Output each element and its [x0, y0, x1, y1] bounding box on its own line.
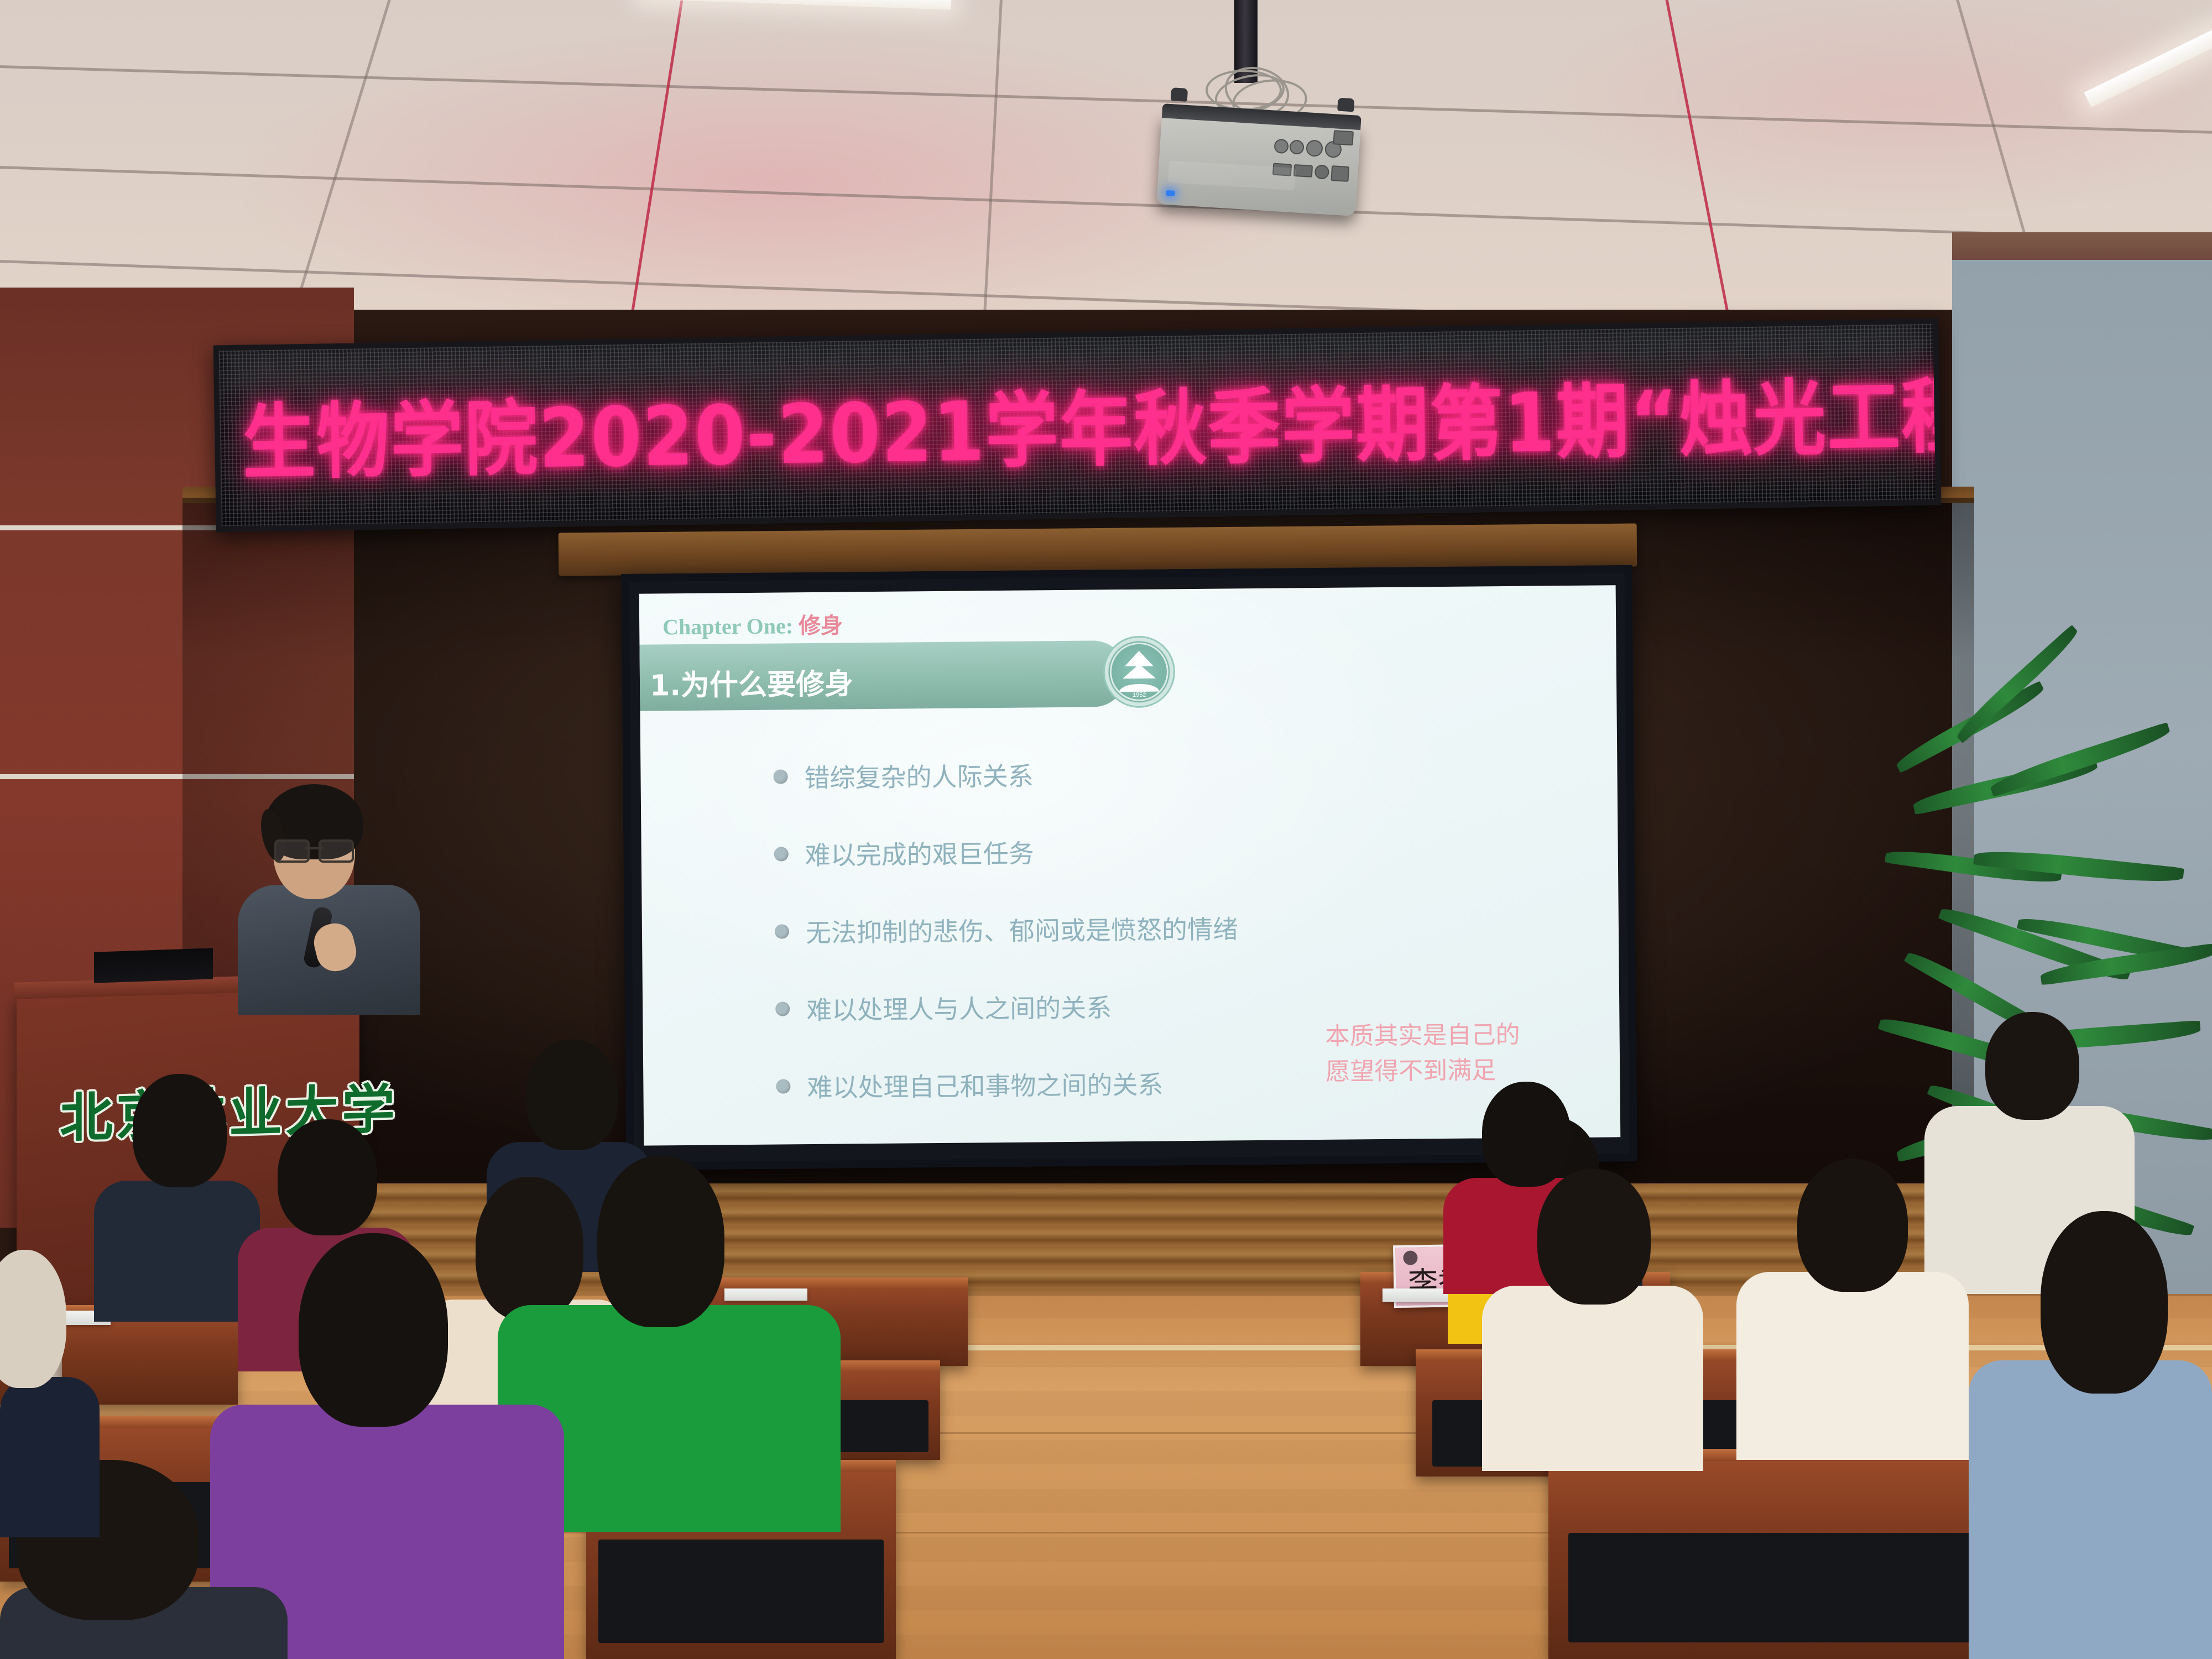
projector-mount-foot [1337, 98, 1354, 112]
projector-power-led-icon [1166, 190, 1175, 196]
bullet-dot-icon [775, 924, 789, 938]
bullet-dot-icon [775, 1001, 790, 1016]
bullet-dot-icon [776, 1079, 790, 1093]
podium-laptop [94, 948, 213, 983]
list-item: 错综复杂的人际关系 [773, 753, 1470, 795]
slide-section-title: 1.为什么要修身 [650, 660, 854, 703]
bullet-text: 难以完成的艰巨任务 [805, 834, 1034, 873]
projector-mount-foot [1171, 87, 1188, 102]
projector-assembly [1139, 0, 1416, 238]
sidenote-line: 本质其实是自己的 [1325, 1018, 1520, 1055]
list-item [1482, 1161, 1703, 1471]
emblem-chevron-bottom [1123, 664, 1156, 679]
bfu-emblem-icon: 1952 [1103, 635, 1175, 708]
chapter-cn-text: 修身 [799, 613, 843, 639]
ceiling [0, 0, 2212, 310]
projector-body [1156, 113, 1360, 216]
bullet-text: 错综复杂的人际关系 [804, 757, 1034, 795]
chapter-en-text: Chapter One: [662, 613, 793, 639]
bullet-dot-icon [773, 769, 787, 784]
presentation-slide: Chapter One:修身 1.为什么要修身 1952 错综复杂的人际关系 [639, 585, 1621, 1145]
list-item: 无法抑制的悲伤、郁闷或是愤怒的情绪 [775, 907, 1472, 950]
bullet-text: 难以处理人与人之间的关系 [806, 988, 1112, 1027]
slide-title-bar: 1.为什么要修身 [639, 640, 1126, 711]
ceiling-color-cast-right [0, 0, 2212, 310]
list-item [1736, 1150, 1969, 1460]
bullet-dot-icon [774, 847, 789, 861]
slide-chapter-label: Chapter One:修身 [662, 608, 843, 641]
bullet-text: 难以处理自己和事物之间的关系 [807, 1065, 1164, 1104]
lecture-hall-photo: 生物学院2020-2021学年秋季学期第1期“烛光工程”主题教育 Chapter… [0, 0, 2212, 1659]
list-item: 难以完成的艰巨任务 [774, 830, 1471, 873]
bullet-text: 无法抑制的悲伤、郁闷或是愤怒的情绪 [806, 909, 1239, 950]
list-item: 难以处理自己 与自己之间的关系 [776, 1140, 1474, 1146]
emblem-year: 1952 [1105, 691, 1173, 698]
presenter [238, 774, 420, 1006]
presenter-glasses-icon [274, 839, 354, 859]
led-banner: 生物学院2020-2021学年秋季学期第1期“烛光工程”主题教育 [213, 319, 1942, 533]
list-item [0, 1250, 100, 1537]
list-item [1969, 1189, 2212, 1659]
bullet-text: 难以处理自己 与自己之间的关系 [807, 1142, 1172, 1145]
